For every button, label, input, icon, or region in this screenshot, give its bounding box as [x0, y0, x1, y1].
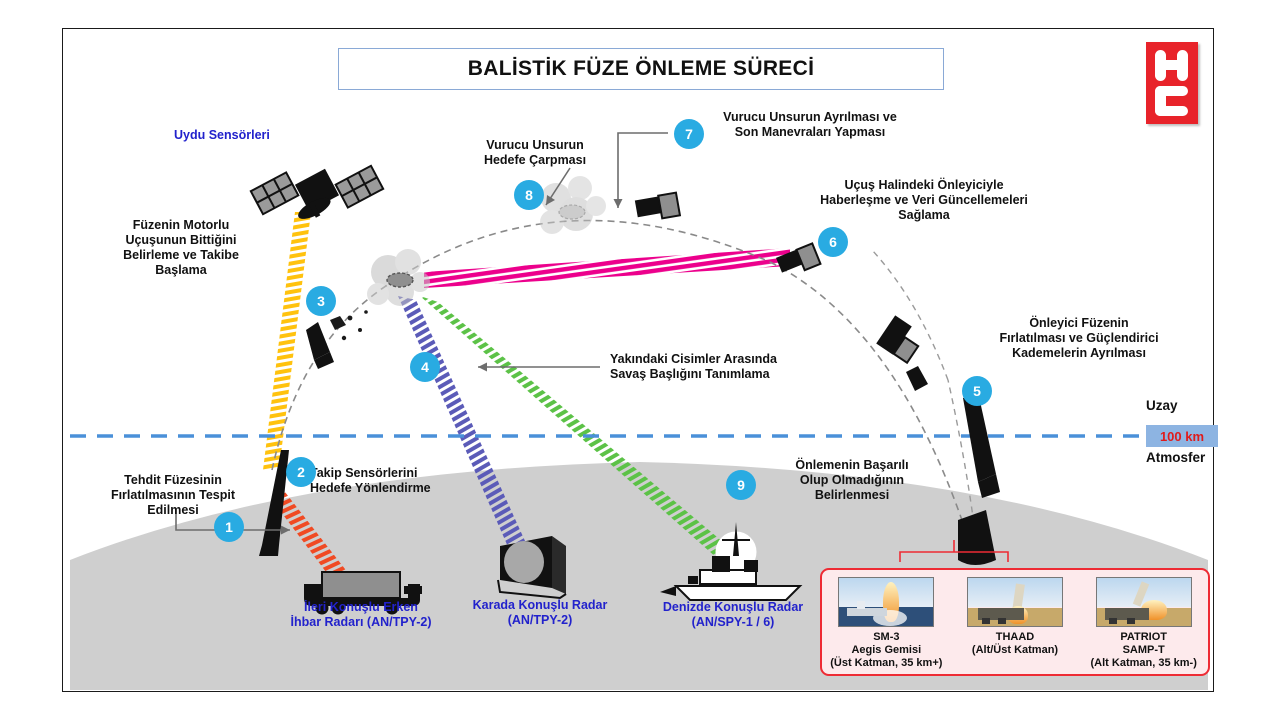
step-2-label: Takip Sensörlerini Hedefe Yönlendirme: [310, 466, 431, 496]
step-badge-8[interactable]: 8: [514, 180, 544, 210]
interceptor-panel: SM-3 Aegis Gemisi (Üst Katman, 35 km+) T…: [820, 568, 1210, 676]
atmosphere-label: Atmosfer: [1146, 450, 1205, 465]
logo-c-bottom: [1155, 106, 1188, 116]
warhead-icon: [387, 273, 413, 287]
step-7-label: Vurucu Unsurun Ayrılması ve Son Manevral…: [676, 110, 944, 140]
step-badge-9[interactable]: 9: [726, 470, 756, 500]
patriot-thumbnail: [1096, 577, 1192, 627]
interceptor-item-thaad[interactable]: THAAD (Alt/Üst Katman): [951, 570, 1080, 674]
sm3-thumbnail: [838, 577, 934, 627]
hc-logo: [1146, 42, 1198, 124]
spent-stage-icon: [306, 322, 334, 369]
interceptor-in-flight-icon: [776, 243, 820, 272]
step-badge-2[interactable]: 2: [286, 457, 316, 487]
logo-h-mid: [1155, 60, 1188, 70]
step-9-label: Önlemenin Başarılı Olup Olmadığının Beli…: [766, 458, 938, 503]
step-badge-5[interactable]: 5: [962, 376, 992, 406]
logo-c-top: [1155, 86, 1188, 96]
sm3-caption: SM-3 Aegis Gemisi (Üst Katman, 35 km+): [830, 631, 942, 670]
satellite-label: Uydu Sensörleri: [174, 128, 270, 143]
interceptor-item-patriot[interactable]: PATRIOT SAMP-T (Alt Katman, 35 km-): [1079, 570, 1208, 674]
kill-vehicle-icon: [635, 193, 680, 219]
step-6-label: Uçuş Halindeki Önleyiciyle Haberleşme ve…: [790, 178, 1058, 223]
step-badge-4[interactable]: 4: [410, 352, 440, 382]
step-4-label: Yakındaki Cisimler Arasında Savaş Başlığ…: [610, 352, 777, 382]
early-warning-radar-label: İleri Konuşlu Erken İhbar Radarı (AN/TPY…: [272, 600, 450, 630]
step-5-label: Önleyici Füzenin Fırlatılması ve Güçlend…: [968, 316, 1190, 361]
page-title: BALİSTİK FÜZE ÖNLEME SÜRECİ: [338, 48, 944, 90]
satellite-icon: [251, 136, 383, 244]
step-badge-1[interactable]: 1: [214, 512, 244, 542]
intercept-debris-icon: [540, 176, 606, 234]
sea-radar-label: Denizde Konuşlu Radar (AN/SPY-1 / 6): [638, 600, 828, 630]
altitude-badge: 100 km: [1146, 425, 1218, 447]
space-label: Uzay: [1146, 398, 1178, 413]
interceptor-item-sm3[interactable]: SM-3 Aegis Gemisi (Üst Katman, 35 km+): [822, 570, 951, 674]
patriot-caption: PATRIOT SAMP-T (Alt Katman, 35 km-): [1091, 631, 1197, 670]
booster-separation-icon: [876, 315, 928, 391]
step-3-label: Füzenin Motorlu Uçuşunun Bittiğini Belir…: [100, 218, 262, 278]
page-title-text: BALİSTİK FÜZE ÖNLEME SÜRECİ: [468, 57, 814, 81]
step-badge-6[interactable]: 6: [818, 227, 848, 257]
step-8-label: Vurucu Unsurun Hedefe Çarpması: [462, 138, 608, 168]
step-badge-3[interactable]: 3: [306, 286, 336, 316]
thaad-thumbnail: [967, 577, 1063, 627]
thaad-caption: THAAD (Alt/Üst Katman): [972, 631, 1058, 657]
step-badge-7[interactable]: 7: [674, 119, 704, 149]
ground-radar-label: Karada Konuşlu Radar (AN/TPY-2): [452, 598, 628, 628]
